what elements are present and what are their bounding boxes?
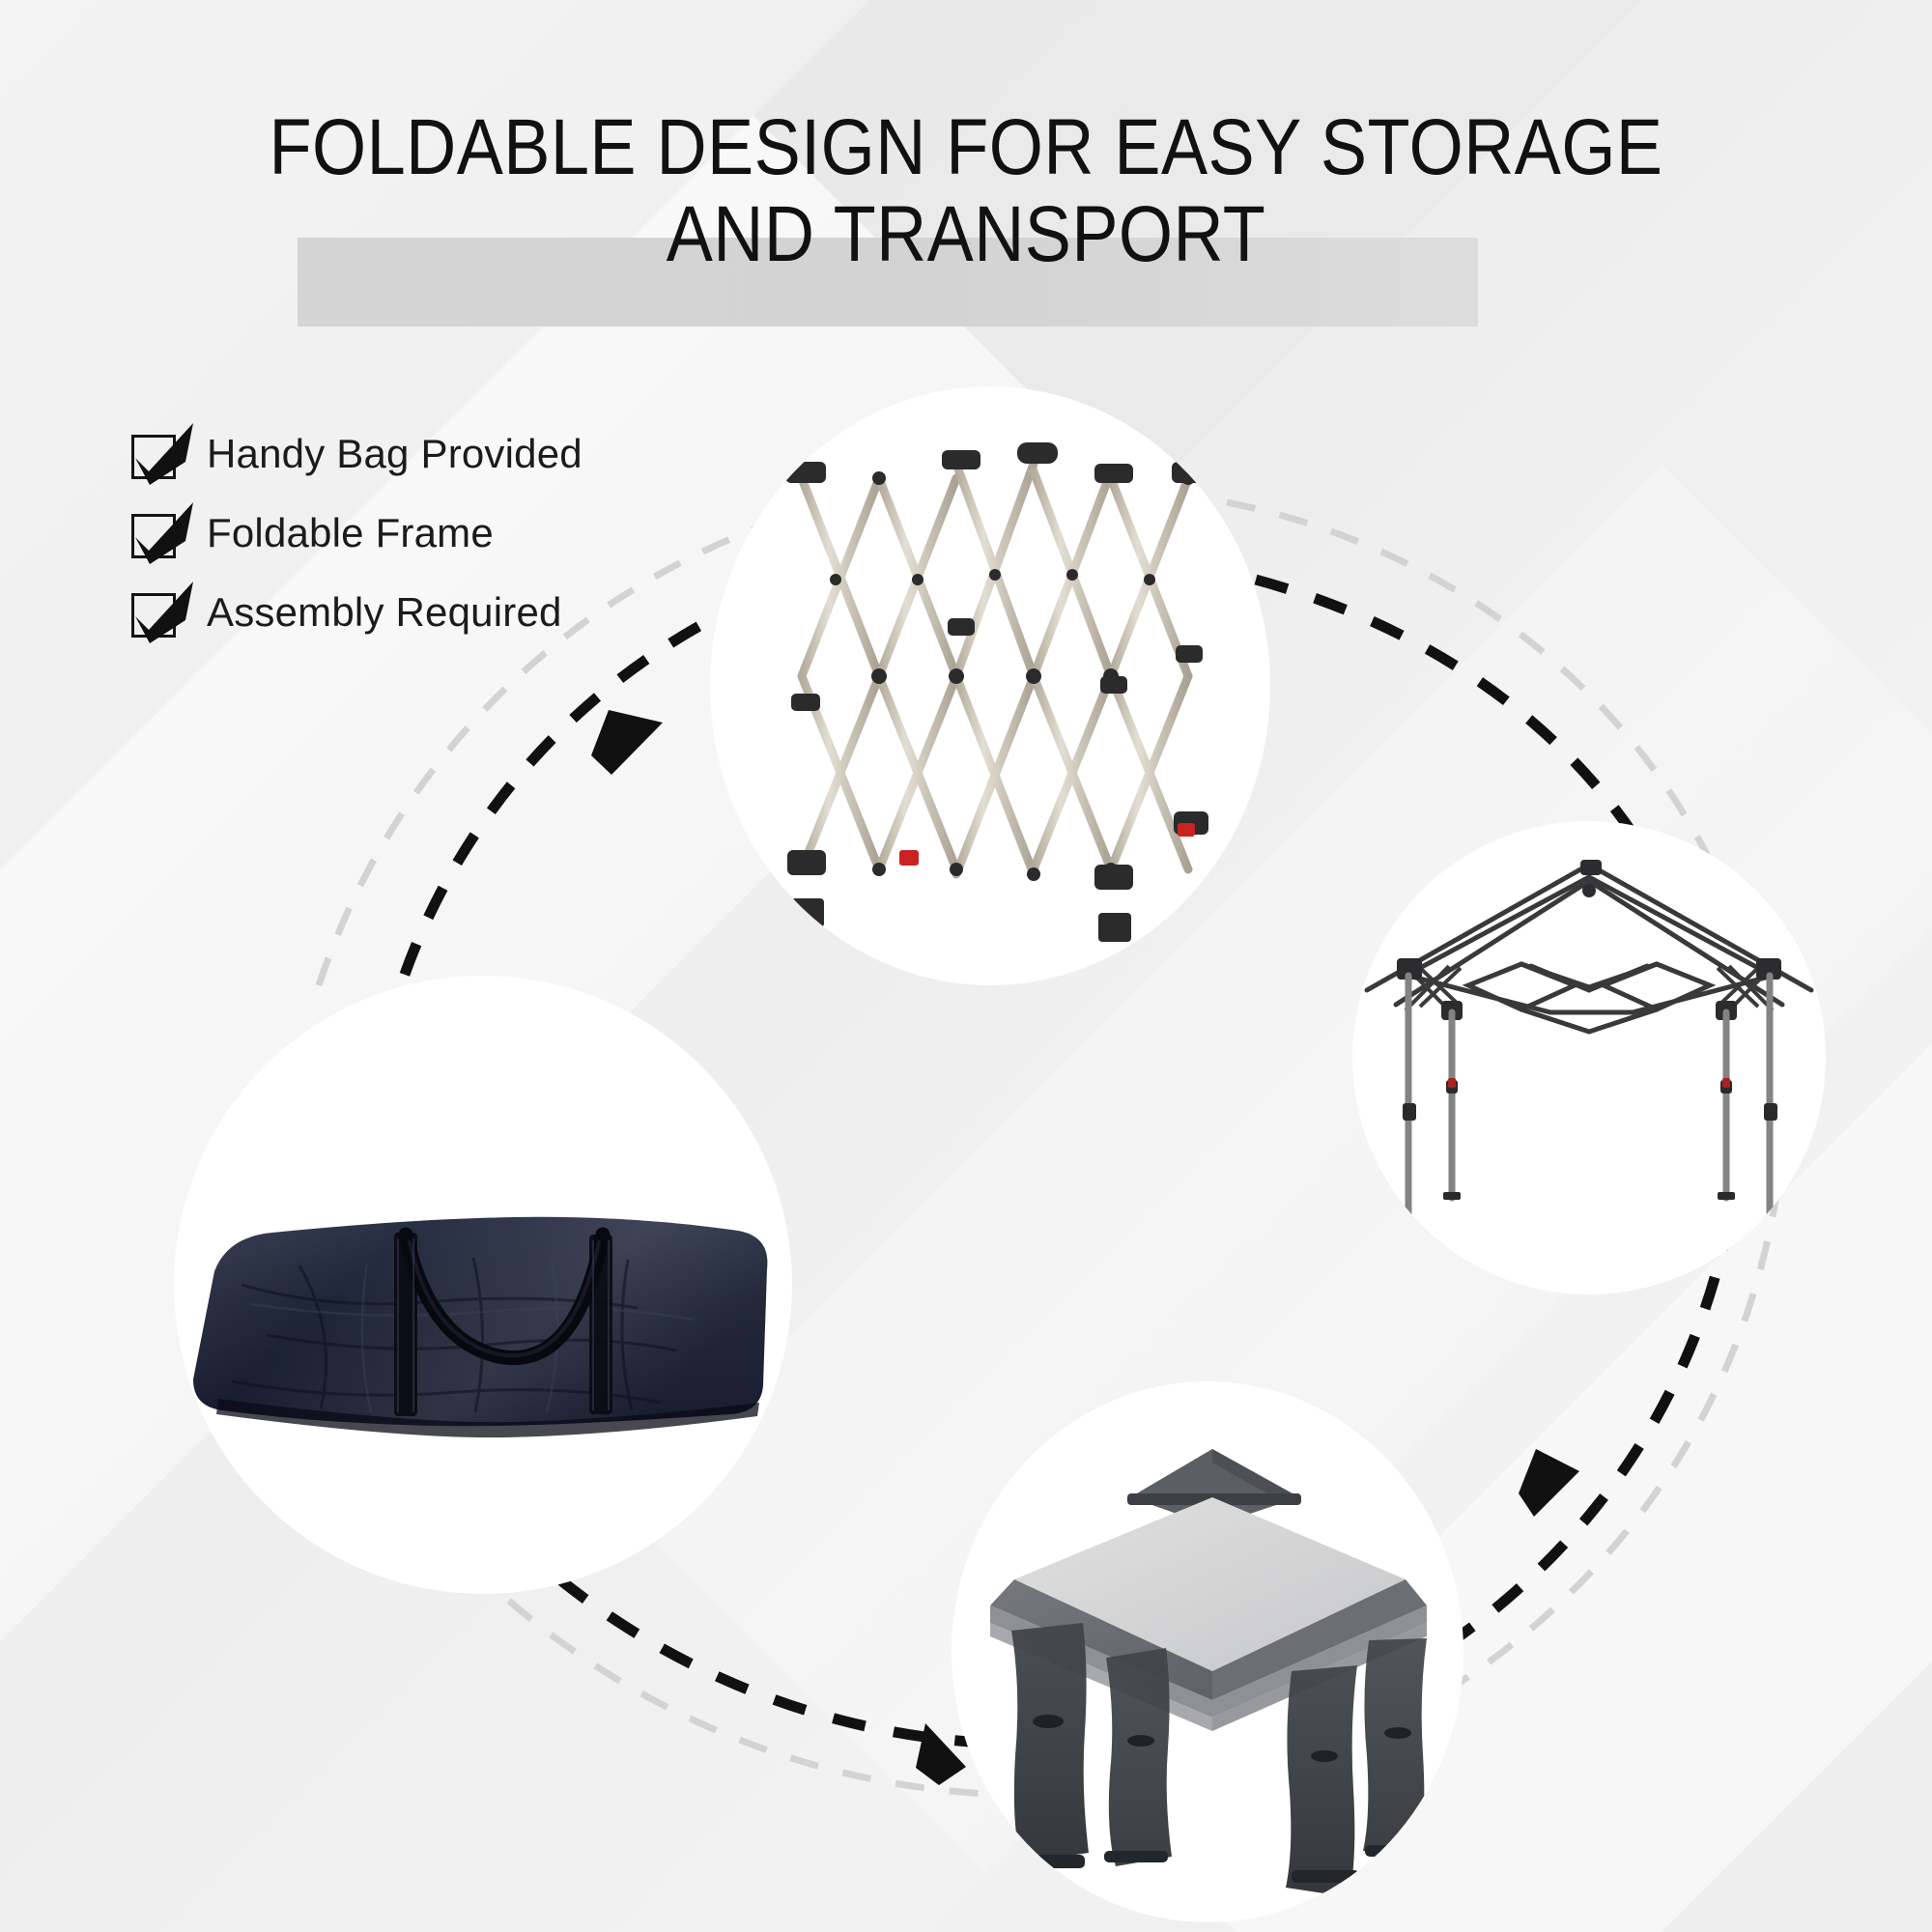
product-photo-folded-frame <box>710 386 1270 985</box>
list-item: Foldable Frame <box>128 502 582 564</box>
feature-label: Assembly Required <box>207 589 562 636</box>
product-photo-carry-bag <box>174 976 792 1594</box>
checkbox-checked-icon <box>128 427 182 481</box>
checkbox-checked-icon <box>128 585 182 639</box>
checkbox-checked-icon <box>128 506 182 560</box>
page-title: FOLDABLE DESIGN FOR EASY STORAGE AND TRA… <box>116 104 1816 278</box>
list-item: Handy Bag Provided <box>128 423 582 485</box>
feature-label: Foldable Frame <box>207 510 494 556</box>
infographic-canvas: FOLDABLE DESIGN FOR EASY STORAGE AND TRA… <box>0 0 1932 1932</box>
product-photo-expanded-frame <box>1352 821 1826 1294</box>
feature-label: Handy Bag Provided <box>207 431 582 477</box>
product-photo-assembled-gazebo <box>952 1381 1463 1922</box>
list-item: Assembly Required <box>128 582 582 643</box>
feature-checklist: Handy Bag Provided Foldable Frame Assemb… <box>128 423 582 661</box>
